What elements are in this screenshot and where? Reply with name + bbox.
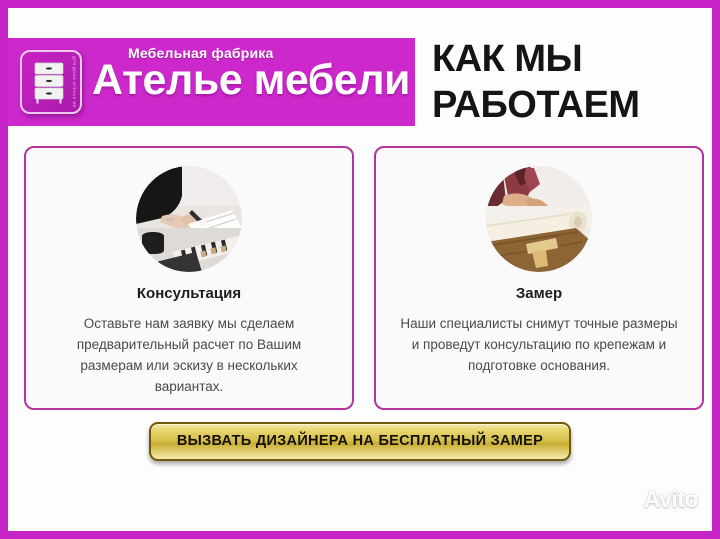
avito-watermark-text: Avito (644, 486, 698, 513)
cta-wrapper: ВЫЗВАТЬ ДИЗАЙНЕРА НА БЕСПЛАТНЫЙ ЗАМЕР (8, 422, 712, 461)
cards-row: Консультация Оставьте нам заявку мы сдел… (24, 146, 704, 410)
card-title: Консультация (42, 285, 336, 302)
card-text: Наши специалисты снимут точные размеры и… (392, 313, 686, 376)
call-designer-button[interactable]: ВЫЗВАТЬ ДИЗАЙНЕРА НА БЕСПЛАТНЫЙ ЗАМЕР (149, 422, 571, 461)
card-title: Замер (392, 285, 686, 302)
avito-watermark: Avito (617, 486, 698, 513)
card-measurement: Замер Наши специалисты снимут точные раз… (374, 146, 704, 410)
avito-logo-icon (617, 489, 641, 511)
logo-vertical-text: ДЛЯ ДОМА АТЕЛЬЕ МЕБЕЛИ (66, 56, 77, 108)
poster: ДЛЯ ДОМА АТЕЛЬЕ МЕБЕЛИ Мебельная фабрика… (0, 0, 720, 539)
measurement-photo (486, 166, 592, 272)
logo-badge: ДЛЯ ДОМА АТЕЛЬЕ МЕБЕЛИ (20, 50, 82, 114)
consultation-photo (136, 166, 242, 272)
brand-bar: ДЛЯ ДОМА АТЕЛЬЕ МЕБЕЛИ Мебельная фабрика… (8, 38, 415, 126)
card-text: Оставьте нам заявку мы сделаем предварит… (42, 313, 336, 397)
poster-inner: ДЛЯ ДОМА АТЕЛЬЕ МЕБЕЛИ Мебельная фабрика… (8, 8, 712, 531)
header: ДЛЯ ДОМА АТЕЛЬЕ МЕБЕЛИ Мебельная фабрика… (8, 38, 712, 126)
brand-name: Ателье мебели (92, 56, 410, 105)
dresser-icon (34, 62, 64, 104)
page-title: КАК МЫ РАБОТАЕМ (432, 36, 712, 128)
card-consultation: Консультация Оставьте нам заявку мы сдел… (24, 146, 354, 410)
